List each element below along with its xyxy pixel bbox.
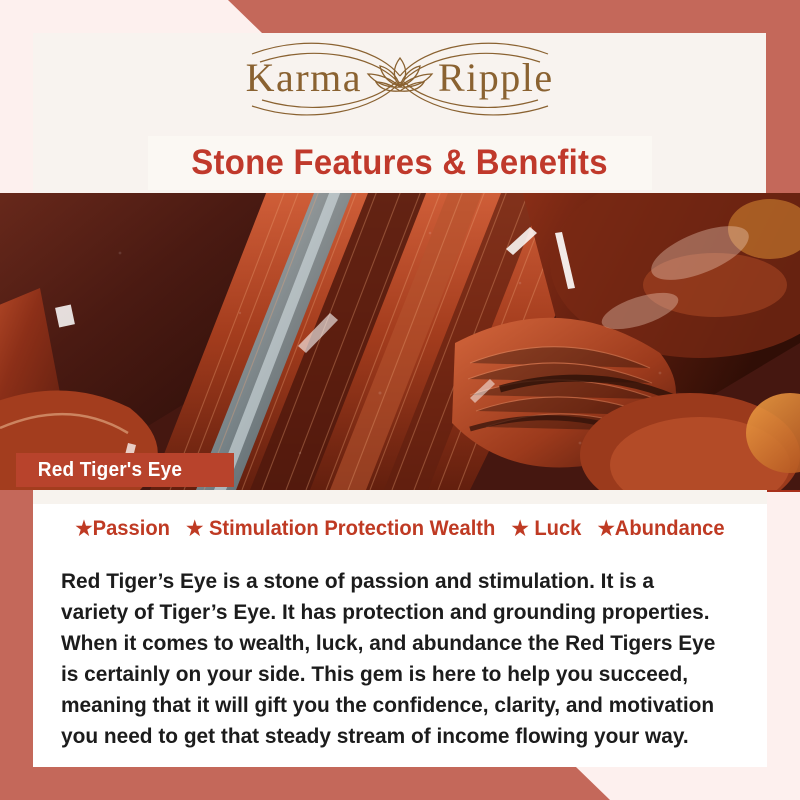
stone-description: Red Tiger’s Eye is a stone of passion an…: [61, 566, 726, 752]
lotus-icon: [368, 58, 432, 91]
content-card: ★Passion ★ Stimulation Protection Wealth…: [33, 490, 767, 767]
star-icon: ★: [75, 518, 92, 540]
keyword-label-0: Passion: [93, 517, 170, 540]
brand-logo: Karma Ripple: [33, 33, 767, 123]
title-banner: Stone Features & Benefits: [148, 136, 652, 190]
brand-name-left: Karma: [246, 55, 362, 100]
frame-top-accent: [0, 0, 800, 33]
frame-bottom-accent: [0, 767, 800, 800]
frame-left-accent: [0, 488, 33, 800]
content-top-strip: [33, 490, 767, 504]
stone-photo: [0, 193, 800, 490]
keyword-item-2: ★ Luck: [512, 517, 582, 540]
keyword-label-1: Stimulation Protection Wealth: [209, 517, 495, 540]
stone-name-banner: Red Tiger's Eye: [16, 453, 234, 487]
keyword-item-3: ★Abundance: [598, 517, 725, 540]
keyword-label-3: Abundance: [615, 517, 725, 540]
brand-name-right: Ripple: [438, 55, 554, 100]
keyword-item-0: ★Passion: [75, 517, 170, 540]
star-icon: ★: [186, 518, 203, 540]
keyword-label-2: Luck: [534, 517, 581, 540]
star-icon: ★: [512, 518, 529, 540]
stone-name-label: Red Tiger's Eye: [38, 459, 182, 482]
stone-info-poster: Karma Ripple Stone Features & Benefits: [0, 0, 800, 800]
keyword-item-1: ★ Stimulation Protection Wealth: [186, 517, 495, 540]
page-title: Stone Features & Benefits: [192, 143, 609, 183]
stone-photo-artwork: [0, 193, 800, 490]
logo-artwork: Karma Ripple: [190, 36, 610, 120]
keywords-row: ★Passion ★ Stimulation Protection Wealth…: [48, 516, 753, 541]
star-icon: ★: [598, 518, 615, 540]
